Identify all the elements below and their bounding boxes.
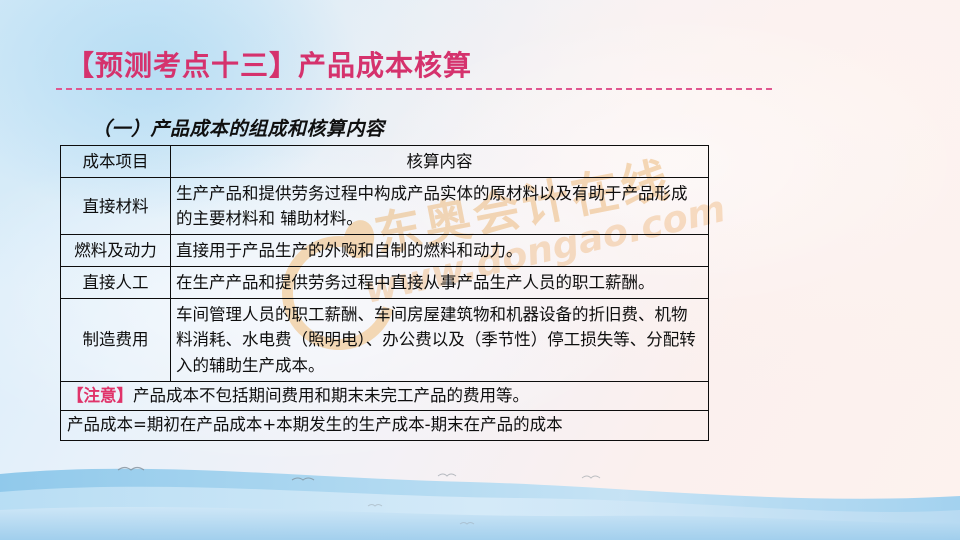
bird-icon: [582, 476, 600, 478]
wave-svg: [0, 448, 960, 540]
bottom-wave-decoration: [0, 448, 960, 540]
table-row: 燃料及动力 直接用于产品生产的外购和自制的燃料和动力。: [61, 235, 709, 267]
row-item-content: 车间管理人员的职工薪酬、车间房屋建筑物和机器设备的折旧费、机物料消耗、水电费（照…: [171, 299, 709, 381]
table-header-row: 成本项目 核算内容: [61, 146, 709, 178]
row-item-content: 在生产产品和提供劳务过程中直接从事产品生产人员的职工薪酬。: [171, 267, 709, 299]
title-divider: [56, 88, 772, 90]
row-item-content: 直接用于产品生产的外购和自制的燃料和动力。: [171, 235, 709, 267]
formula-text: 产品成本=期初在产品成本+本期发生的生产成本-期末在产品的成本: [61, 411, 709, 441]
slide-canvas: 东奥会计在线 www.dongao.com 【预测考点十三】产品成本核算 （一）…: [0, 0, 960, 540]
note-cell: 【注意】产品成本不包括期间费用和期末未完工产品的费用等。: [61, 381, 709, 411]
table-row: 制造费用 车间管理人员的职工薪酬、车间房屋建筑物和机器设备的折旧费、机物料消耗、…: [61, 299, 709, 381]
row-item-label: 直接人工: [61, 267, 171, 299]
table-formula-row: 产品成本=期初在产品成本+本期发生的生产成本-期末在产品的成本: [61, 411, 709, 441]
note-tag: 【注意】: [67, 386, 133, 405]
row-item-label: 燃料及动力: [61, 235, 171, 267]
header-accounting-content: 核算内容: [171, 146, 709, 178]
row-item-content: 生产产品和提供劳务过程中构成产品实体的原材料以及有助于产品形成的主要材料和 辅助…: [171, 178, 709, 235]
row-item-label: 直接材料: [61, 178, 171, 235]
table-row: 直接材料 生产产品和提供劳务过程中构成产品实体的原材料以及有助于产品形成的主要材…: [61, 178, 709, 235]
bird-icon: [438, 474, 456, 476]
header-cost-item: 成本项目: [61, 146, 171, 178]
cost-accounting-table: 成本项目 核算内容 直接材料 生产产品和提供劳务过程中构成产品实体的原材料以及有…: [60, 145, 709, 441]
table-note-row: 【注意】产品成本不包括期间费用和期末未完工产品的费用等。: [61, 381, 709, 411]
page-title: 【预测考点十三】产品成本核算: [66, 44, 472, 84]
section-subtitle: （一）产品成本的组成和核算内容: [92, 114, 385, 141]
row-item-label: 制造费用: [61, 299, 171, 381]
note-text: 产品成本不包括期间费用和期末未完工产品的费用等。: [133, 386, 529, 405]
table-row: 直接人工 在生产产品和提供劳务过程中直接从事产品生产人员的职工薪酬。: [61, 267, 709, 299]
